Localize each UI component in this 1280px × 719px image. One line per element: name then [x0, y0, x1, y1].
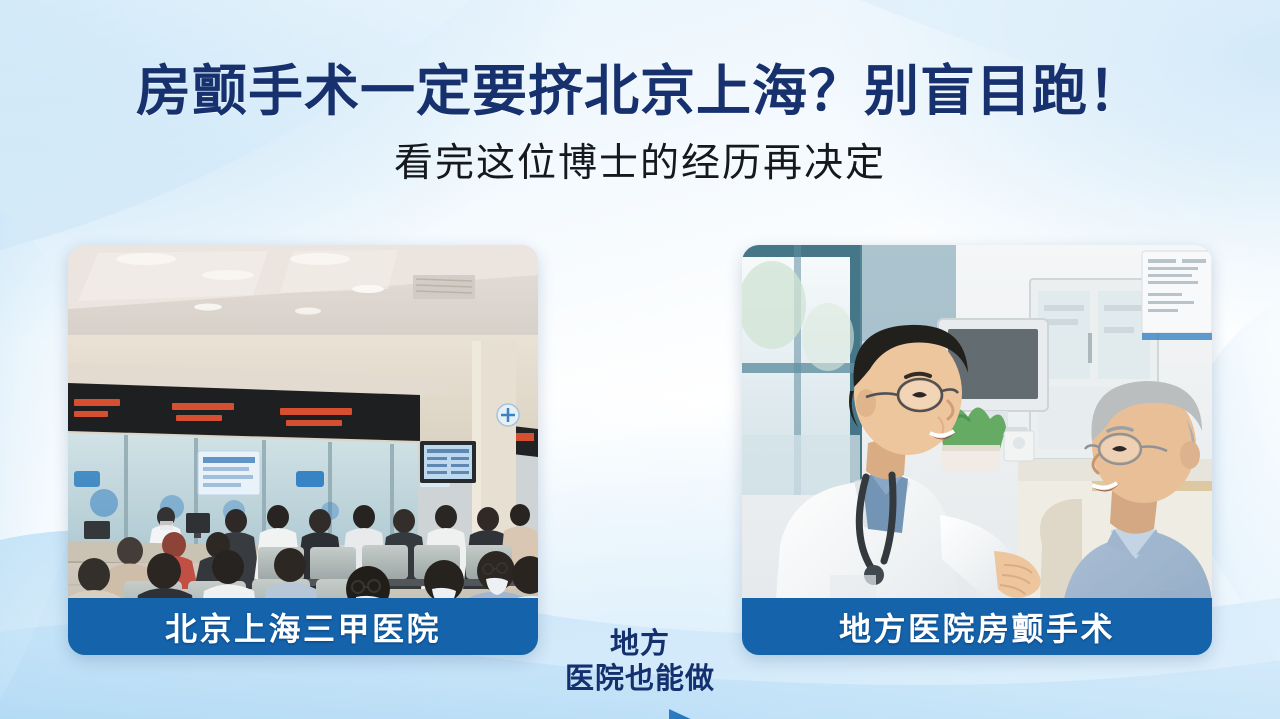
- callout-line-1: 地方: [610, 627, 670, 662]
- panel-card-right[interactable]: 地方医院房颤手术: [742, 245, 1212, 655]
- caption-text-right: 地方医院房颤手术: [839, 604, 1115, 650]
- caption-bar-left: 北京上海三甲医院: [68, 598, 538, 655]
- caption-text-left: 北京上海三甲医院: [165, 604, 441, 650]
- caption-bar-right: 地方医院房颤手术: [742, 598, 1212, 655]
- photo-doctor-and-patient: [742, 245, 1212, 655]
- page-title: 房颤手术一定要挤北京上海？别盲目跑！: [0, 62, 1280, 120]
- header: 房颤手术一定要挤北京上海？别盲目跑！ 看完这位博士的经历再决定: [0, 0, 1280, 186]
- comparison-row: 北京上海三甲医院: [0, 245, 1280, 655]
- transition-callout: 地方 医院也能做: [538, 490, 742, 719]
- callout-line-2: 医院也能做: [565, 662, 715, 697]
- arrow-right-icon: [553, 707, 727, 719]
- page-subtitle: 看完这位博士的经历再决定: [0, 142, 1280, 186]
- panel-card-left[interactable]: 北京上海三甲医院: [68, 245, 538, 655]
- photo-crowded-hospital-hall: [68, 245, 538, 655]
